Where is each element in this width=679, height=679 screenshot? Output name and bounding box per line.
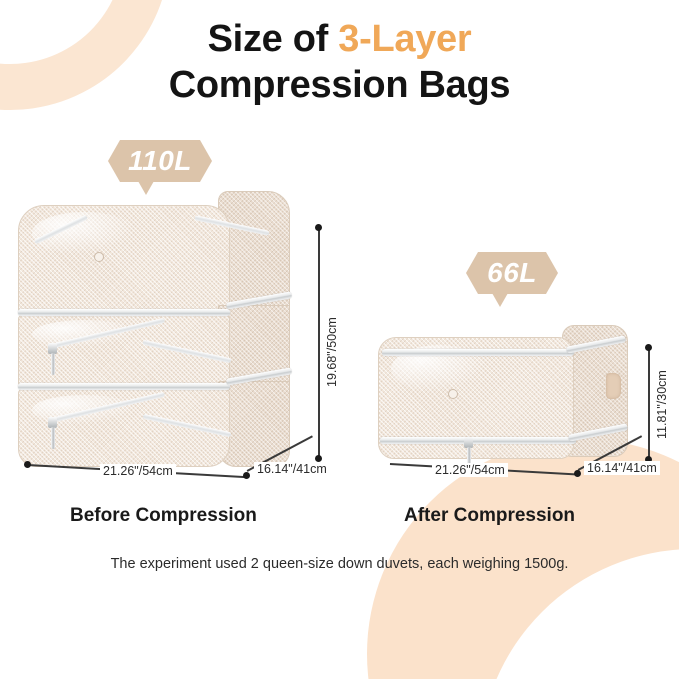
title-accent: 3-Layer [338, 18, 471, 60]
dim-label-height-before: 19.68"/50cm [325, 314, 339, 390]
dim-dot-height-before-top [315, 224, 322, 231]
zipper-pull-middle [51, 353, 55, 375]
compression-bag-before [18, 205, 290, 467]
bag-layer-top [18, 205, 290, 313]
air-vent-grommet [448, 389, 458, 399]
page-title: Size of 3-Layer Compression Bags [0, 16, 679, 109]
dim-dot-width-before-right [243, 472, 250, 479]
dim-label-depth-before: 16.14"/41cm [254, 462, 330, 476]
capacity-badge-66l: 66L [466, 252, 558, 294]
air-vent-grommet [94, 252, 104, 262]
side-handle [606, 373, 621, 399]
zipper-pull-bottom [51, 427, 55, 449]
dim-dot-height-before-bottom [315, 455, 322, 462]
dim-line-height-after [648, 348, 650, 460]
capacity-badge-66l-tail [492, 293, 508, 307]
zipper-seam-upper [18, 309, 230, 316]
title-line-2: Compression Bags [0, 62, 679, 108]
caption-after-compression: After Compression [404, 505, 575, 527]
dim-label-height-after: 11.81"/30cm [655, 367, 669, 442]
zipper-top-edge [382, 349, 574, 356]
bag-layer-bottom [18, 389, 290, 467]
capacity-badge-66l-label: 66L [487, 257, 537, 289]
bag-layer-top-front [18, 205, 230, 313]
dim-dot-height-after-top [645, 344, 652, 351]
compression-zipper-after [380, 437, 576, 444]
title-line-1: Size of 3-Layer [0, 16, 679, 62]
dim-label-width-after: 21.26"/54cm [432, 463, 508, 477]
title-prefix: Size of [208, 18, 339, 60]
infographic-canvas: Size of 3-Layer Compression Bags 110L [0, 0, 679, 679]
capacity-badge-110l: 110L [108, 140, 212, 182]
caption-before-compression: Before Compression [70, 505, 257, 527]
zipper-seam-lower [18, 383, 230, 390]
dim-dot-width-after-right [574, 470, 581, 477]
compression-bag-after [378, 337, 628, 459]
dim-label-width-before: 21.26"/54cm [100, 464, 176, 478]
dim-line-height-before [318, 228, 320, 458]
capacity-badge-110l-label: 110L [128, 145, 192, 177]
capacity-badge-110l-tail [138, 181, 154, 195]
dim-dot-width-before-left [24, 461, 31, 468]
experiment-footnote: The experiment used 2 queen-size down du… [0, 556, 679, 572]
dim-label-depth-after: 16.14"/41cm [584, 461, 660, 475]
